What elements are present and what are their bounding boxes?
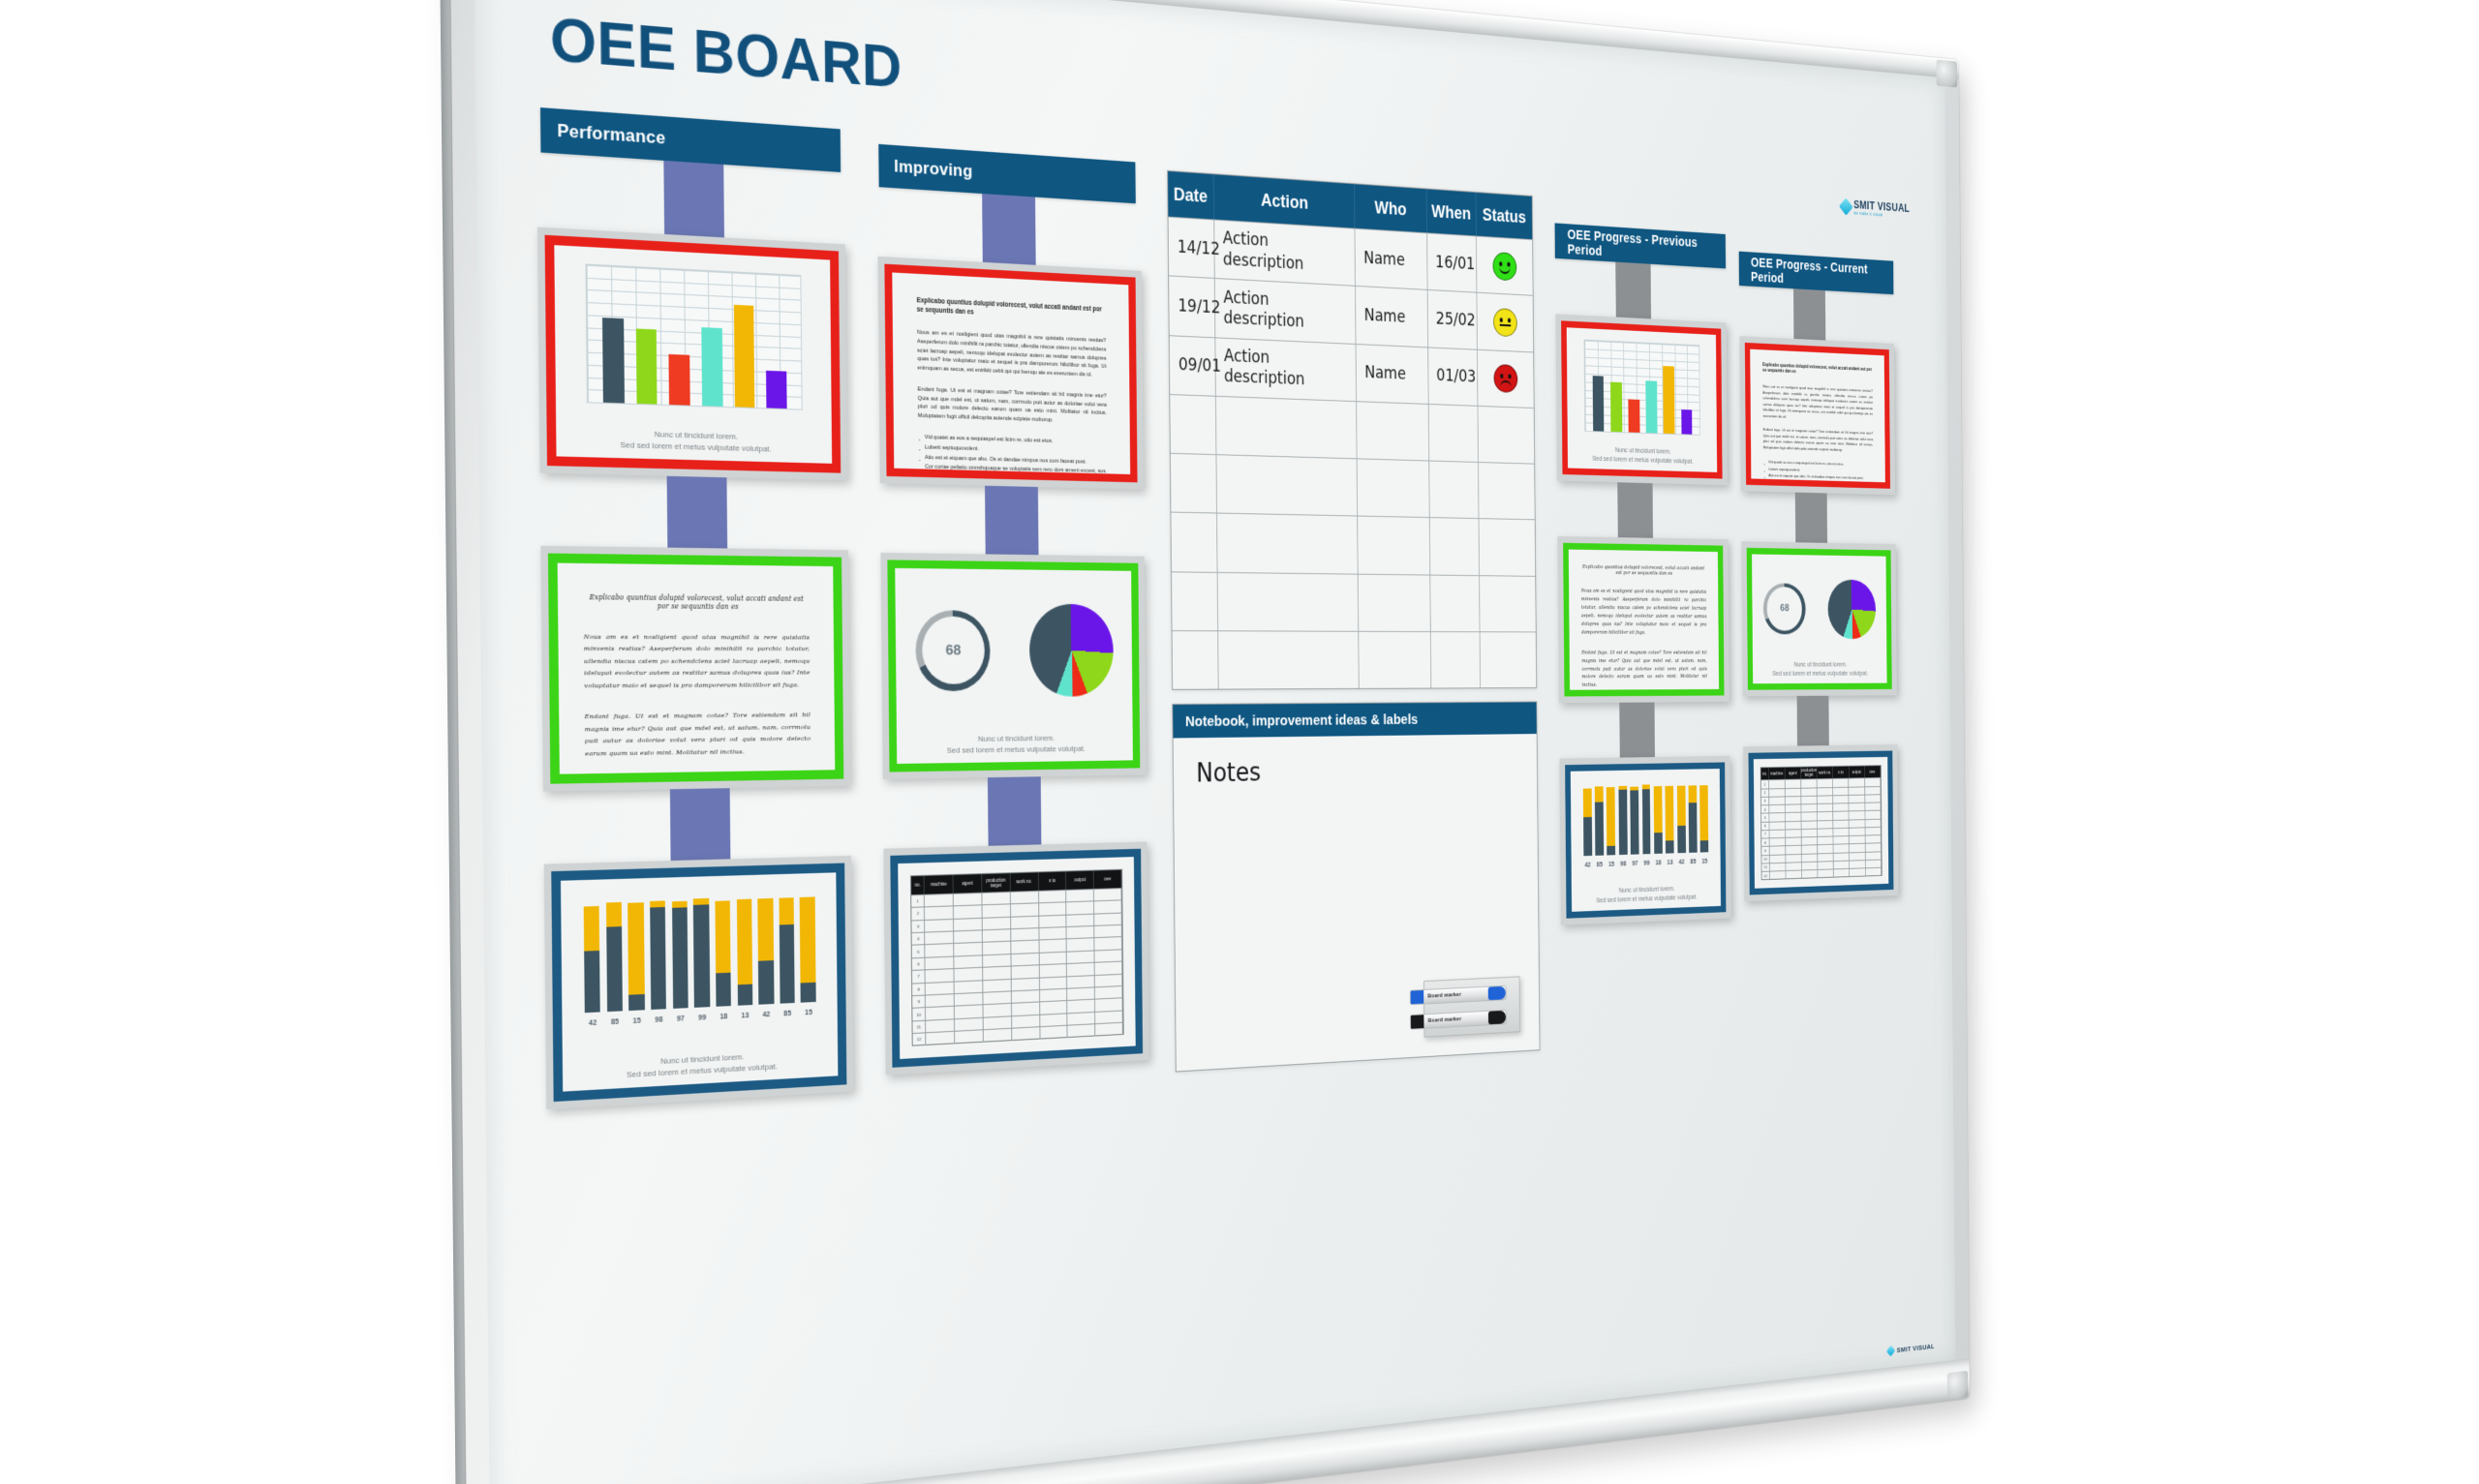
stack-label-5: 97 bbox=[1631, 861, 1639, 867]
bar-5 bbox=[734, 305, 755, 408]
yellow-neutral-face-icon bbox=[1493, 308, 1517, 337]
stack-3 bbox=[627, 899, 644, 1011]
stack-label-2: 85 bbox=[607, 1018, 623, 1026]
table-row: 3 bbox=[911, 912, 1122, 932]
cell-action: Action description bbox=[1215, 338, 1357, 401]
whiteboard-perspective: Board marker OEE BOARD SMIT VISUAL we ma… bbox=[441, 0, 2145, 1483]
stack-bars bbox=[1583, 782, 1709, 856]
caption-line-2: Sed sed lorem et metus vulputate volutpa… bbox=[897, 743, 1133, 757]
table-row-empty[interactable] bbox=[1172, 630, 1536, 689]
doc-paragraph-1: Nous am es et nosligient quod utas magni… bbox=[1762, 384, 1873, 423]
row-number: 12 bbox=[1762, 872, 1770, 880]
column-header-oee: oee bbox=[1865, 766, 1881, 778]
gauge-and-pie: 68 bbox=[896, 595, 1133, 705]
stack-label-2: 85 bbox=[1596, 863, 1605, 869]
hand-heading: Explicabo quuntius dolupid volorecest, v… bbox=[1581, 564, 1707, 577]
stack-label-3: 15 bbox=[629, 1017, 645, 1025]
table-body: 1 2 3 4 5 6 7 8 9 10 bbox=[1761, 777, 1882, 879]
pen-holder[interactable]: Board marker Board marker bbox=[1423, 976, 1520, 1037]
document-card-availability-chart[interactable]: 42 85 15 98 97 99 18 13 42 85 bbox=[544, 856, 854, 1109]
row-number: 12 bbox=[912, 1034, 926, 1046]
doc-paragraph-2: Endant fuga. Ut est et magnam cotae? Tor… bbox=[918, 385, 1107, 427]
magnet-strip-prev-2 bbox=[1617, 482, 1653, 541]
bar-3 bbox=[1628, 400, 1639, 434]
column-header-no: no. bbox=[911, 875, 925, 894]
chart-grid bbox=[1583, 340, 1700, 437]
row-number: 3 bbox=[911, 921, 925, 932]
magnet-strip-performance-3 bbox=[670, 788, 731, 869]
document-card-prev-bar-chart[interactable]: Nunc ut tincidunt lorem. Sed sed lorem e… bbox=[1555, 314, 1728, 485]
doc-heading: Explicabo quuntius dolupid volorecest, v… bbox=[1762, 363, 1873, 379]
marker-band bbox=[1411, 990, 1424, 1004]
handwritten-document: Explicabo quuntius dolupid volorecest, v… bbox=[1569, 550, 1719, 690]
list-item: Atio est et eiquam que abo. Os et dandae… bbox=[918, 453, 1107, 468]
document-card-prev-handwritten[interactable]: Explicabo quuntius dolupid volorecest, v… bbox=[1557, 536, 1729, 703]
magnet-strip-prev-1 bbox=[1615, 262, 1651, 323]
document-card-current-text[interactable]: Explicabo quuntius dolupid volorecest, v… bbox=[1739, 336, 1895, 495]
column-header-target: production target bbox=[1801, 767, 1818, 779]
caption-line-1: Nunc ut tincidunt lorem. bbox=[1753, 661, 1886, 670]
cell-date: 14/12 bbox=[1169, 218, 1215, 279]
card-border-navy: 42 85 15 98 97 99 18 13 42 85 bbox=[551, 863, 846, 1103]
column-header-nto: n to bbox=[1833, 766, 1849, 778]
table-row: 2 bbox=[911, 900, 1122, 921]
row-number: 1 bbox=[1761, 780, 1769, 788]
row-number: 2 bbox=[1761, 789, 1769, 797]
brand-name: SMIT VISUAL bbox=[1897, 1342, 1935, 1353]
brand-logo-bottom: SMIT VISUAL bbox=[1887, 1342, 1934, 1355]
lorem-document: Explicabo quuntius dolupid volorecest, v… bbox=[1750, 349, 1885, 483]
row-number: 2 bbox=[911, 908, 925, 920]
list-item: Ibilis ut rest, excepellat porsaequa vel… bbox=[918, 473, 1107, 483]
column-header-action: Action bbox=[1213, 174, 1355, 227]
chart-caption: Nunc ut tincidunt lorem. Sed sed lorem e… bbox=[897, 733, 1133, 757]
notebook-panel[interactable]: Notebook, improvement ideas & labels Not… bbox=[1172, 701, 1540, 1072]
row-number: 1 bbox=[911, 895, 925, 907]
oee-pie-chart bbox=[1029, 604, 1114, 697]
stack-label-4: 98 bbox=[1619, 862, 1628, 868]
lorem-document: Explicabo quuntius dolupid volorecest, v… bbox=[892, 272, 1130, 474]
column-header-machine: machine bbox=[1769, 768, 1786, 780]
card-border-green: Explicabo quuntius dolupid volorecest, v… bbox=[1563, 543, 1724, 697]
chart-caption: Nunc ut tincidunt lorem. Sed sed lorem e… bbox=[556, 427, 832, 457]
bar-6 bbox=[766, 370, 786, 408]
magnet-strip-improving-3 bbox=[988, 776, 1042, 850]
smit-visual-diamond-icon bbox=[1886, 1346, 1895, 1357]
table-row-empty[interactable] bbox=[1171, 512, 1535, 576]
stack-label-11: 15 bbox=[801, 1009, 815, 1016]
hand-paragraph-2: Endant fuga. Ut est et magnam cotae? Tor… bbox=[1581, 651, 1707, 691]
column-header-target: production target bbox=[982, 873, 1010, 893]
stack-label-1: 42 bbox=[1583, 863, 1592, 869]
stack-label-7: 18 bbox=[716, 1013, 731, 1020]
table-row: 4 bbox=[911, 924, 1121, 945]
cell-date: 09/01 bbox=[1170, 336, 1216, 396]
black-board-marker[interactable]: Board marker bbox=[1410, 1010, 1507, 1030]
column-header-output: output bbox=[1066, 870, 1094, 890]
doc-bullet-list: Vid quatet as eos a sequiaspel est licim… bbox=[918, 434, 1108, 483]
stack-9 bbox=[757, 894, 774, 1004]
document-card-current-gauge[interactable]: 68 Nunc ut tincidunt lorem. Sed sed lore… bbox=[1741, 541, 1897, 696]
stack-label-11: 15 bbox=[1700, 859, 1708, 865]
stack-label-9: 42 bbox=[1677, 860, 1685, 866]
cell-status[interactable] bbox=[1477, 237, 1533, 296]
page-title: OEE BOARD bbox=[550, 4, 903, 103]
magnet-strip-cur-1 bbox=[1793, 288, 1825, 344]
magnet-strip-performance-1 bbox=[663, 161, 724, 244]
table-row-empty[interactable] bbox=[1172, 571, 1536, 631]
column-header-who: Who bbox=[1355, 184, 1427, 232]
stack-bars bbox=[584, 893, 816, 1013]
row-number: 6 bbox=[912, 958, 926, 971]
oee-pie-chart bbox=[1827, 579, 1876, 639]
list-item: Cor coriae peliatio omnshquaque se volup… bbox=[918, 463, 1107, 477]
card-border-green: Explicabo quuntius dolupid volorecest, v… bbox=[548, 554, 843, 784]
table-row-empty[interactable] bbox=[1171, 453, 1535, 520]
table-row: 11 bbox=[912, 1010, 1122, 1033]
stack-2 bbox=[606, 900, 623, 1012]
marker-band bbox=[1411, 1015, 1424, 1028]
oee-gauge: 68 bbox=[1763, 583, 1806, 635]
stack-labels: 42 85 15 98 97 99 18 13 42 85 bbox=[585, 1009, 816, 1027]
cell-who: Name bbox=[1356, 287, 1428, 347]
chart-caption: Nunc ut tincidunt lorem. Sed sed lorem e… bbox=[563, 1047, 838, 1085]
stack-label-8: 13 bbox=[1666, 860, 1674, 866]
action-table-body: 14/12 Action description Name 16/01 bbox=[1169, 217, 1537, 689]
hand-paragraph-3: Vid quatet as eos a sequiaspel est licim… bbox=[585, 775, 811, 783]
bar-5 bbox=[1664, 366, 1675, 435]
caption-line-1: Nunc ut tincidunt lorem. bbox=[556, 427, 832, 446]
column-header-agent: agent bbox=[954, 874, 983, 893]
smit-visual-diamond-icon bbox=[1839, 197, 1853, 215]
frame-corner-top-right bbox=[1937, 59, 1958, 87]
table-row: 7 bbox=[912, 961, 1122, 983]
stack-label-7: 18 bbox=[1654, 861, 1663, 867]
section-header-notebook: Notebook, improvement ideas & labels bbox=[1173, 702, 1537, 738]
row-number: 4 bbox=[911, 933, 925, 945]
stack-label-5: 97 bbox=[673, 1015, 689, 1022]
document-card-improvement-text[interactable]: Explicabo quuntius dolupid volorecest, v… bbox=[877, 257, 1144, 490]
magnet-strip-cur-3 bbox=[1797, 696, 1829, 750]
stack-5 bbox=[672, 897, 689, 1008]
chart-grid bbox=[586, 263, 802, 409]
bar-6 bbox=[1681, 409, 1693, 435]
section-header-oee-previous: OEE Progress - Previous Period bbox=[1555, 223, 1727, 268]
document-card-data-table[interactable]: no. machine agent production target work… bbox=[883, 841, 1148, 1075]
empty-data-table: no. machine agent production target work… bbox=[910, 868, 1124, 1046]
stack-label-6: 99 bbox=[1642, 861, 1651, 867]
frame-corner-bottom-right bbox=[1947, 1371, 1969, 1399]
stack-label-8: 13 bbox=[738, 1012, 753, 1019]
doc-bullet-list: Vid quatet as eos a sequiaspel est licim… bbox=[1763, 459, 1874, 489]
whiteboard-surface: OEE BOARD SMIT VISUAL we make it visual … bbox=[474, 0, 1955, 1484]
list-item: Vid quatet as eos a sequiaspel est licim… bbox=[918, 434, 1107, 449]
table-row: 8 bbox=[912, 973, 1122, 995]
magnet-strip-performance-2 bbox=[667, 476, 728, 557]
stack-7 bbox=[715, 896, 731, 1007]
gauge-value: 68 bbox=[922, 617, 985, 684]
cell-when: 01/03 bbox=[1428, 348, 1479, 406]
card-border-navy: no. machine agent production target work… bbox=[1748, 750, 1893, 894]
row-number: 9 bbox=[912, 996, 926, 1009]
gauge-and-pie: 68 bbox=[1752, 572, 1886, 645]
row-number: 10 bbox=[912, 1009, 926, 1021]
column-header-no: no. bbox=[1761, 768, 1769, 780]
action-table[interactable]: Date Action Who When Status 14/12 Action… bbox=[1167, 170, 1537, 690]
table-body: 1 2 3 4 5 6 7 8 9 10 bbox=[911, 888, 1123, 1045]
bar-3 bbox=[669, 354, 690, 405]
table-row: 12 bbox=[912, 1022, 1122, 1045]
column-header-nto: n to bbox=[1038, 871, 1066, 891]
table-row: 1 bbox=[911, 888, 1122, 907]
column-header-workno: work no. bbox=[1010, 872, 1038, 892]
card-border-red: Nunc ut tincidunt lorem. Sed sed lorem e… bbox=[1561, 320, 1723, 478]
hand-paragraph-2: Endant fuga. Ut est et magnam cotae? Tor… bbox=[585, 710, 811, 760]
stack-4 bbox=[650, 898, 666, 1010]
bar-2 bbox=[1610, 382, 1622, 433]
caption-line-1: Nunc ut tincidunt lorem. bbox=[563, 1047, 838, 1074]
bar-4 bbox=[701, 327, 722, 406]
document-card-handwritten-notes[interactable]: Explicabo quuntius dolupid volorecest, v… bbox=[540, 546, 850, 792]
row-number: 5 bbox=[912, 946, 926, 958]
stack-labels: 42 85 15 98 97 99 18 13 42 85 bbox=[1583, 859, 1708, 869]
bar-1 bbox=[1593, 376, 1605, 432]
row-number: 7 bbox=[912, 971, 926, 984]
hand-paragraph-1: Nous am es et nosligient quod utas magni… bbox=[1581, 589, 1707, 638]
cell-status[interactable] bbox=[1478, 349, 1534, 408]
stack-label-6: 99 bbox=[694, 1014, 710, 1021]
marker-cap bbox=[1488, 986, 1506, 1000]
stack-label-4: 98 bbox=[651, 1015, 666, 1023]
magnet-strip-prev-3 bbox=[1619, 702, 1655, 761]
stack-11 bbox=[800, 893, 815, 1002]
card-border-red: Nunc ut tincidunt lorem. Sed sed lorem e… bbox=[545, 235, 842, 473]
row-number: 8 bbox=[912, 984, 926, 996]
list-item: Luberit septuquovolent. bbox=[918, 443, 1107, 459]
stack-label-10: 85 bbox=[780, 1010, 795, 1017]
table-row: 10 bbox=[912, 998, 1122, 1021]
prev-bar-chart bbox=[1567, 339, 1717, 437]
card-border-green: 68 Nunc ut tincidunt lorem. Sed sed lore… bbox=[887, 560, 1140, 772]
row-number: 11 bbox=[912, 1021, 926, 1034]
cell-who: Name bbox=[1356, 345, 1428, 404]
caption-line-2: Sed sed lorem et metus vulputate volutpa… bbox=[563, 1059, 838, 1086]
marker-cap bbox=[1488, 1011, 1506, 1024]
column-header-output: output bbox=[1849, 766, 1864, 778]
card-border-red: Explicabo quuntius dolupid volorecest, v… bbox=[1745, 343, 1890, 489]
doc-heading: Explicabo quuntius dolupid volorecest, v… bbox=[917, 297, 1106, 323]
stack-1 bbox=[584, 900, 600, 1013]
performance-bar-chart bbox=[554, 262, 831, 411]
cell-action: Action description bbox=[1214, 221, 1356, 287]
document-card-performance-chart[interactable]: Nunc ut tincidunt lorem. Sed sed lorem e… bbox=[537, 227, 847, 481]
doc-paragraph-2: Endant fuga. Ut est et magnam cotae? Tor… bbox=[1763, 427, 1874, 454]
caption-line-2: Sed sed lorem et metus vulputate volutpa… bbox=[1753, 670, 1886, 679]
card-border-navy: no. machine agent production target work… bbox=[890, 849, 1143, 1068]
column-header-status: Status bbox=[1476, 193, 1532, 239]
stack-label-1: 42 bbox=[585, 1019, 600, 1027]
magnet-strip-improving-2 bbox=[985, 486, 1039, 560]
table-row: 5 bbox=[912, 936, 1122, 957]
card-border-green: 68 Nunc ut tincidunt lorem. Sed sed lore… bbox=[1747, 548, 1892, 690]
column-header-date: Date bbox=[1168, 171, 1214, 220]
stack-6 bbox=[693, 897, 710, 1008]
section-header-performance: Performance bbox=[540, 107, 841, 172]
chart-caption: Nunc ut tincidunt lorem. Sed sed lorem e… bbox=[1568, 445, 1717, 468]
red-frown-icon bbox=[1493, 364, 1517, 393]
bar-4 bbox=[1646, 381, 1658, 434]
cell-when: 25/02 bbox=[1427, 290, 1478, 348]
column-header-workno: work no. bbox=[1818, 767, 1834, 779]
chart-bars bbox=[596, 265, 793, 409]
document-card-oee-gauge[interactable]: 68 Nunc ut tincidunt lorem. Sed sed lore… bbox=[880, 553, 1146, 779]
oee-gauge: 68 bbox=[915, 610, 991, 691]
doc-paragraph-1: Nous am es et nosligient quod utas magni… bbox=[917, 329, 1107, 380]
column-header-machine: machine bbox=[925, 875, 954, 894]
cell-action: Action description bbox=[1214, 279, 1356, 343]
notes-text: Notes bbox=[1196, 754, 1537, 789]
stack-label-3: 15 bbox=[1607, 862, 1616, 868]
column-header-oee: oee bbox=[1094, 869, 1122, 889]
magnet-strip-cur-2 bbox=[1795, 493, 1827, 547]
table-header-row: no. machine agent production target work… bbox=[911, 869, 1122, 894]
document-card-current-table[interactable]: no. machine agent production target work… bbox=[1743, 744, 1899, 901]
marker-label: Board marker bbox=[1428, 1016, 1462, 1024]
hand-paragraph-1: Nous am es et nosligient quod utas magni… bbox=[584, 631, 811, 692]
cell-when: 16/01 bbox=[1427, 233, 1478, 292]
bar-2 bbox=[635, 328, 657, 404]
chart-caption: Nunc ut tincidunt lorem. Sed sed lorem e… bbox=[1572, 884, 1721, 906]
magnet-strip-improving-1 bbox=[982, 194, 1036, 269]
bar-1 bbox=[602, 318, 625, 403]
stack-8 bbox=[736, 895, 752, 1005]
cell-status[interactable] bbox=[1477, 293, 1533, 351]
table-row: 6 bbox=[912, 949, 1122, 970]
handwritten-document: Explicabo quuntius dolupid volorecest, v… bbox=[558, 563, 836, 774]
oee-whiteboard: Board marker OEE BOARD SMIT VISUAL we ma… bbox=[450, 0, 1970, 1484]
card-border-navy: 42 85 15 98 97 99 18 13 42 85 bbox=[1565, 762, 1726, 918]
board-frame: Board marker OEE BOARD SMIT VISUAL we ma… bbox=[450, 0, 1970, 1484]
stack-label-9: 42 bbox=[759, 1011, 775, 1018]
hand-heading: Explicabo quuntius dolupid volorecest, v… bbox=[583, 592, 809, 611]
document-card-prev-stacked-chart[interactable]: 42 85 15 98 97 99 18 13 42 85 bbox=[1559, 756, 1730, 925]
availability-stacked-bar-chart: 42 85 15 98 97 99 18 13 42 85 bbox=[584, 893, 816, 1027]
chart-bars bbox=[1589, 341, 1696, 435]
cell-date: 19/12 bbox=[1169, 277, 1215, 337]
section-header-oee-current: OEE Progress - Current Period bbox=[1739, 252, 1894, 295]
card-border-red: Explicabo quuntius dolupid volorecest, v… bbox=[884, 264, 1137, 483]
column-header-when: When bbox=[1426, 189, 1476, 235]
chart-caption: Nunc ut tincidunt lorem. Sed sed lorem e… bbox=[1753, 661, 1887, 679]
green-smiley-icon bbox=[1492, 252, 1516, 281]
gauge-value: 68 bbox=[1766, 587, 1802, 630]
blue-board-marker[interactable]: Board marker bbox=[1410, 985, 1507, 1006]
screenshot-root: Board marker OEE BOARD SMIT VISUAL we ma… bbox=[0, 0, 2479, 1484]
caption-line-1: Nunc ut tincidunt lorem. bbox=[897, 733, 1133, 746]
column-header-agent: agent bbox=[1785, 767, 1801, 779]
stack-10 bbox=[779, 894, 794, 1004]
caption-line-2: Sed sed lorem et metus vulputate volutpa… bbox=[556, 439, 832, 458]
marker-label: Board marker bbox=[1427, 992, 1461, 1000]
brand-logo: SMIT VISUAL we make it visual bbox=[1841, 197, 1910, 219]
cell-who: Name bbox=[1355, 229, 1427, 289]
section-header-improving: Improving bbox=[878, 144, 1135, 203]
empty-data-table: no. machine agent production target work… bbox=[1760, 765, 1882, 881]
stack-label-10: 85 bbox=[1689, 860, 1697, 866]
table-row: 9 bbox=[912, 985, 1122, 1008]
prev-stacked-bar-chart: 42 85 15 98 97 99 18 13 42 85 bbox=[1583, 782, 1709, 868]
